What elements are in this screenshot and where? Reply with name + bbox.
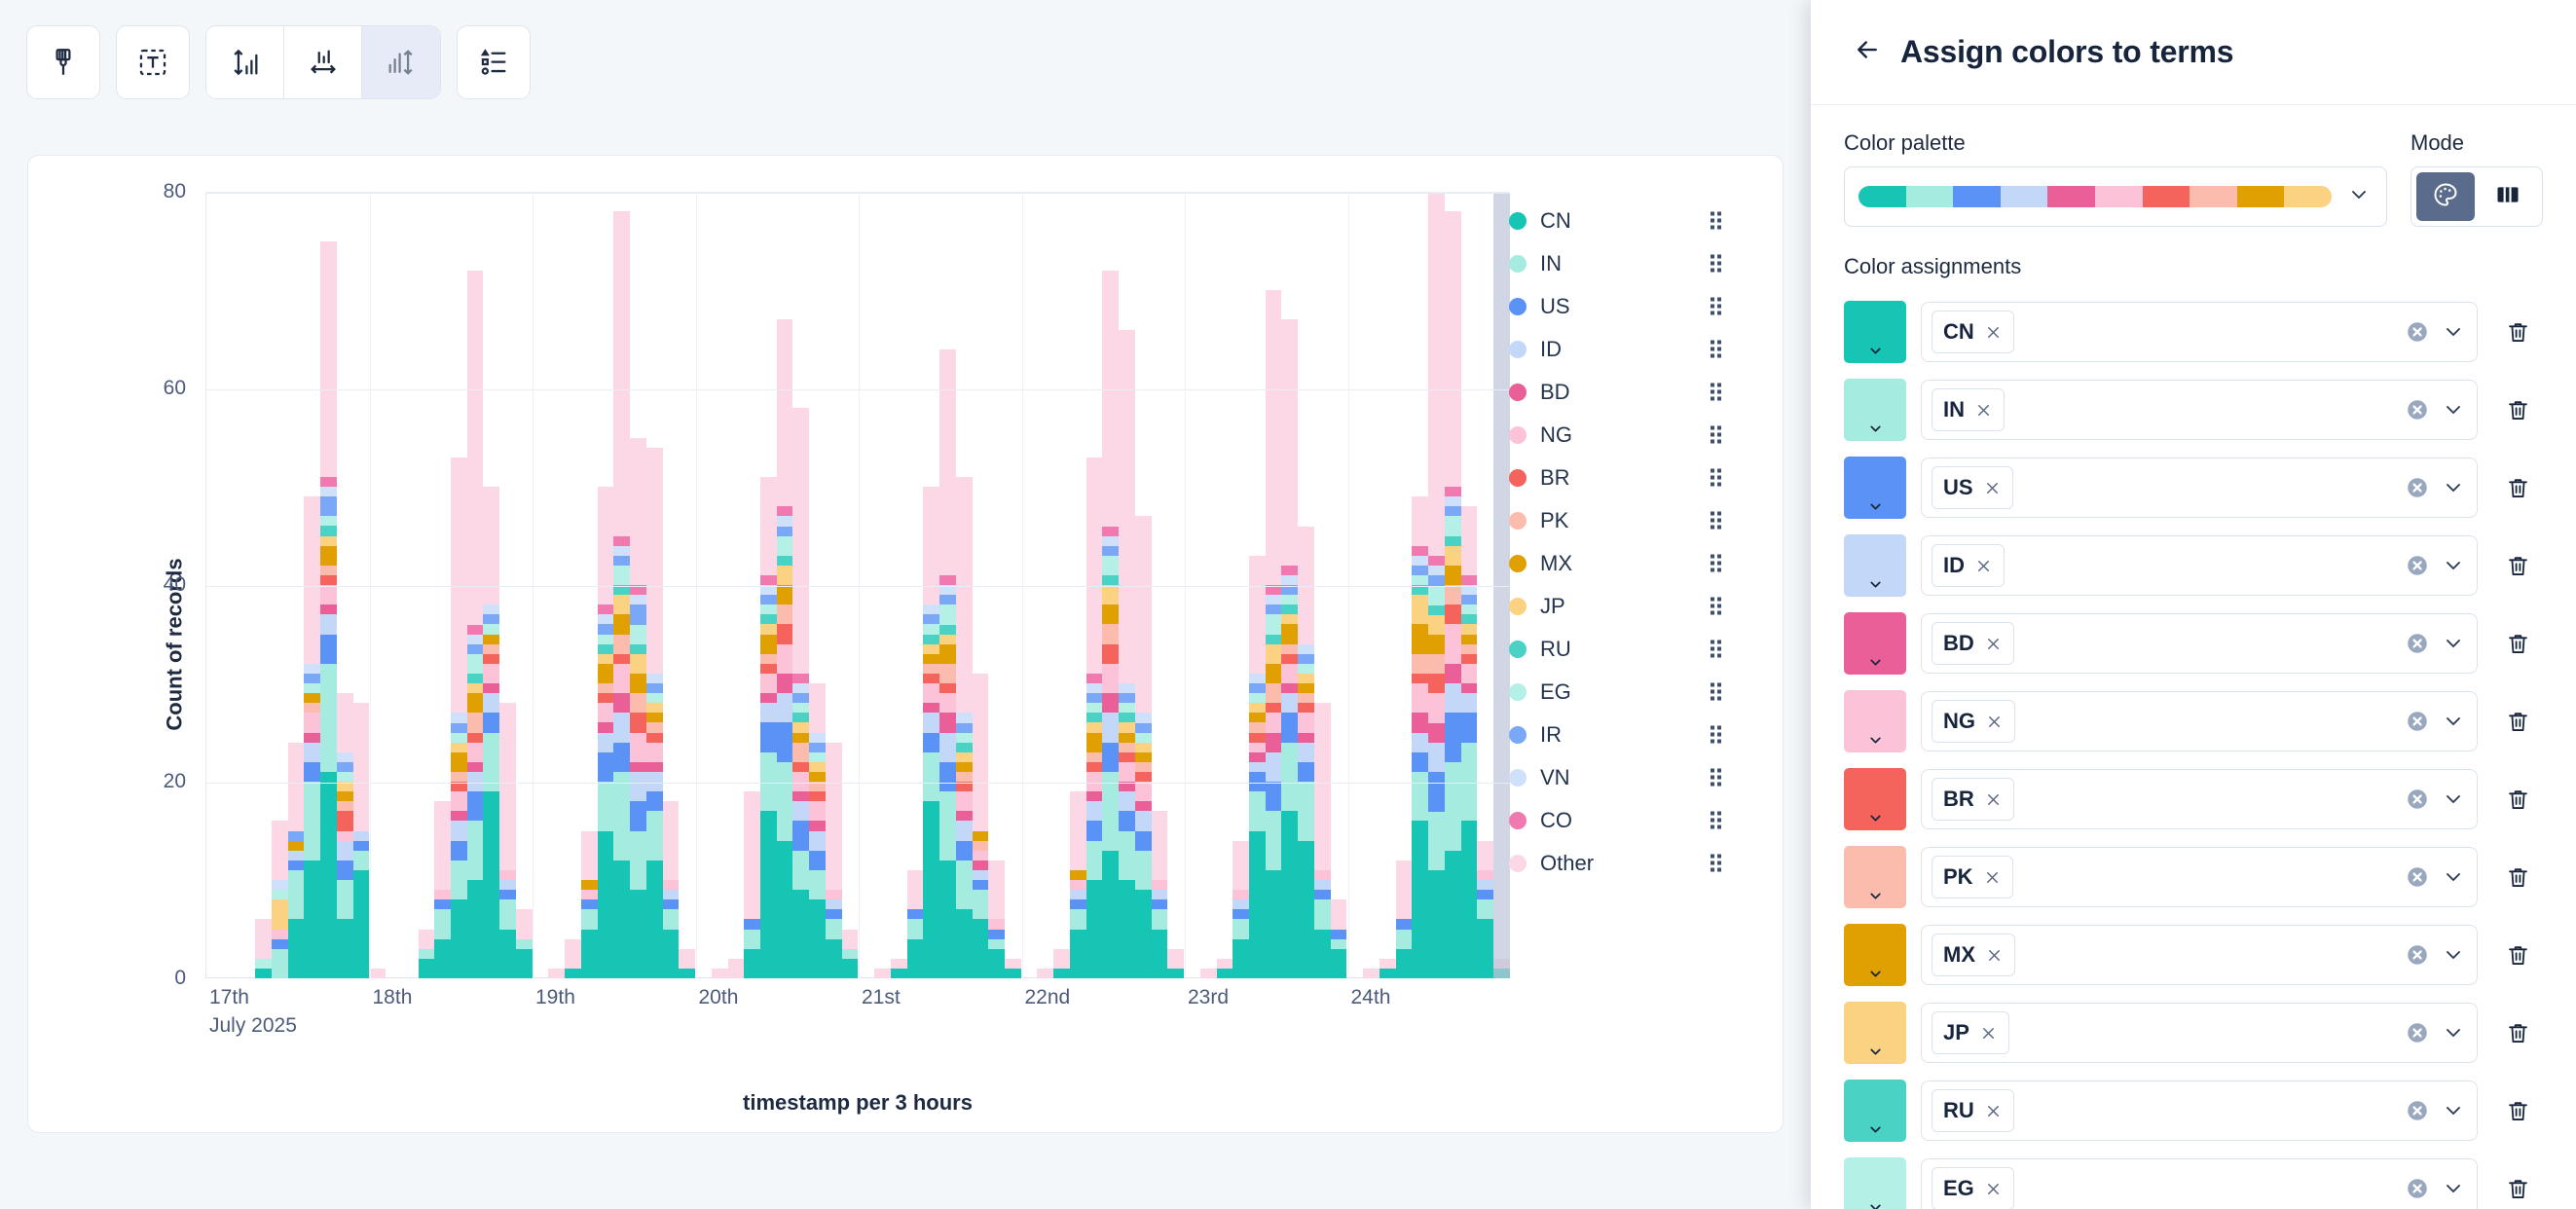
bar-segment[interactable] <box>663 899 680 909</box>
drag-handle-icon[interactable] <box>1711 469 1721 488</box>
bar-segment[interactable] <box>792 693 809 703</box>
bar-segment[interactable] <box>777 527 793 536</box>
bar-segment[interactable] <box>516 909 533 938</box>
bar-segment[interactable] <box>304 733 320 743</box>
bar-segment[interactable] <box>923 604 939 614</box>
bar-segment[interactable] <box>1298 693 1314 703</box>
bar-segment[interactable] <box>1461 624 1478 634</box>
bar-segment[interactable] <box>907 870 924 909</box>
bar-segment[interactable] <box>1298 782 1314 841</box>
bar-segment[interactable] <box>598 782 614 831</box>
bar-segment[interactable] <box>1461 575 1478 585</box>
bar-segment[interactable] <box>630 801 646 830</box>
bar-segment[interactable] <box>1152 890 1168 899</box>
color-swatch-button[interactable] <box>1844 768 1906 830</box>
bar-segment[interactable] <box>320 241 337 477</box>
bar-segment[interactable] <box>923 487 939 604</box>
bar-segment[interactable] <box>1461 664 1478 683</box>
bar-segment[interactable] <box>663 930 680 979</box>
bar-segment[interactable] <box>467 821 484 880</box>
bar-segment[interactable] <box>483 614 499 624</box>
bar-segment[interactable] <box>1281 319 1298 566</box>
bar-segment[interactable] <box>760 703 777 722</box>
bar-segment[interactable] <box>613 635 630 654</box>
bar-segment[interactable] <box>1233 890 1249 899</box>
drag-handle-icon[interactable] <box>1711 555 1721 573</box>
bar-segment[interactable] <box>1314 899 1331 929</box>
bar-segment[interactable] <box>646 713 663 722</box>
clear-circle-icon[interactable] <box>2405 1098 2430 1123</box>
bar-segment[interactable] <box>792 733 809 743</box>
clear-circle-icon[interactable] <box>2405 475 2430 500</box>
bar-segment[interactable] <box>451 733 467 743</box>
bar-segment[interactable] <box>809 683 826 733</box>
bar-segment[interactable] <box>1412 575 1428 585</box>
bar-segment[interactable] <box>304 674 320 683</box>
bar-segment[interactable] <box>1119 762 1135 782</box>
chevron-down-icon[interactable] <box>2442 865 2465 889</box>
bar-segment[interactable] <box>1070 791 1086 870</box>
bar-segment[interactable] <box>467 762 484 772</box>
chevron-down-icon[interactable] <box>2442 788 2465 811</box>
bar-segment[interactable] <box>646 733 663 743</box>
bar-segment[interactable] <box>353 870 370 978</box>
delete-assignment-button[interactable] <box>2492 1163 2543 1209</box>
bar-segment[interactable] <box>1119 693 1135 703</box>
bar-segment[interactable] <box>613 546 630 556</box>
bar-segment[interactable] <box>939 664 956 683</box>
bar-segment[interactable] <box>337 791 353 801</box>
bar-segment[interactable] <box>1461 635 1478 644</box>
bar-segment[interactable] <box>1281 713 1298 742</box>
bar-segment[interactable] <box>1249 791 1266 830</box>
bar-segment[interactable] <box>1428 635 1445 654</box>
bar-segment[interactable] <box>1266 870 1282 978</box>
bar-segment[interactable] <box>988 919 1005 929</box>
bar-segment[interactable] <box>792 743 809 762</box>
bar-segment[interactable] <box>1086 722 1103 732</box>
bar-segment[interactable] <box>1102 271 1119 527</box>
bar-segment[interactable] <box>1428 693 1445 722</box>
drag-handle-icon[interactable] <box>1711 812 1721 830</box>
bar-segment[interactable] <box>598 683 614 693</box>
clear-circle-icon[interactable] <box>2405 1020 2430 1045</box>
bar-segment[interactable] <box>1412 546 1428 556</box>
bar-segment[interactable] <box>1412 683 1428 713</box>
bar-segment[interactable] <box>499 890 516 899</box>
bar-segment[interactable] <box>1086 801 1103 821</box>
delete-assignment-button[interactable] <box>2492 462 2543 513</box>
bar-segment[interactable] <box>988 861 1005 920</box>
bar-segment[interactable] <box>1119 791 1135 811</box>
bar-segment[interactable] <box>467 654 484 674</box>
bar-segment[interactable] <box>760 674 777 693</box>
bar-segment[interactable] <box>777 536 793 556</box>
bar-segment[interactable] <box>581 831 598 881</box>
bar-segment[interactable] <box>792 890 809 978</box>
bar-segment[interactable] <box>1053 969 1070 978</box>
bar-segment[interactable] <box>1266 595 1282 604</box>
bar-segment[interactable] <box>1281 595 1298 604</box>
bar-segment[interactable] <box>939 791 956 861</box>
bar-segment[interactable] <box>467 635 484 644</box>
bar-segment[interactable] <box>1167 949 1184 969</box>
bar-segment[interactable] <box>451 752 467 772</box>
bar-segment[interactable] <box>712 969 728 978</box>
bar-segment[interactable] <box>956 762 973 772</box>
bar-segment[interactable] <box>320 516 337 526</box>
bar-segment[interactable] <box>1396 861 1413 920</box>
bar-segment[interactable] <box>1200 969 1217 978</box>
bar-segment[interactable] <box>451 821 467 840</box>
bar-segment[interactable] <box>826 899 842 909</box>
bar-segment[interactable] <box>891 959 907 969</box>
term-combobox[interactable]: RU <box>1921 1081 2478 1141</box>
bar-segment[interactable] <box>1461 821 1478 978</box>
drag-handle-icon[interactable] <box>1711 512 1721 531</box>
bar-segment[interactable] <box>1298 762 1314 782</box>
bar-segment[interactable] <box>1281 811 1298 978</box>
bar-segment[interactable] <box>777 624 793 643</box>
bar-segment[interactable] <box>1314 930 1331 979</box>
color-swatch-button[interactable] <box>1844 846 1906 908</box>
bar-segment[interactable] <box>1266 664 1282 683</box>
bar-segment[interactable] <box>809 791 826 801</box>
legend-item[interactable]: PK <box>1509 499 1733 542</box>
bar-segment[interactable] <box>679 949 695 969</box>
bar-segment[interactable] <box>581 909 598 929</box>
clear-circle-icon[interactable] <box>2405 864 2430 890</box>
bar-segment[interactable] <box>792 408 809 674</box>
bar-segment[interactable] <box>1428 615 1445 635</box>
bar-segment[interactable] <box>939 733 956 762</box>
bar-segment[interactable] <box>1428 556 1445 566</box>
legend-item[interactable]: ID <box>1509 328 1733 371</box>
drag-handle-icon[interactable] <box>1711 598 1721 616</box>
bar-segment[interactable] <box>1070 890 1086 899</box>
bar-segment[interactable] <box>956 752 973 762</box>
bar-segment[interactable] <box>1461 713 1478 742</box>
drag-handle-icon[interactable] <box>1711 255 1721 274</box>
bar-segment[interactable] <box>1266 290 1282 585</box>
bar-segment[interactable] <box>304 782 320 861</box>
bar-segment[interactable] <box>1298 674 1314 683</box>
bar-segment[interactable] <box>973 861 989 870</box>
bar-segment[interactable] <box>646 703 663 713</box>
bar-segment[interactable] <box>1086 791 1103 801</box>
term-combobox[interactable]: BR <box>1921 769 2478 829</box>
legend-item[interactable]: US <box>1509 285 1733 328</box>
color-swatch-button[interactable] <box>1844 1080 1906 1142</box>
color-swatch-button[interactable] <box>1844 301 1906 363</box>
bar-segment[interactable] <box>956 772 973 782</box>
bar-segment[interactable] <box>320 496 337 516</box>
bar-segment[interactable] <box>320 575 337 585</box>
bar-segment[interactable] <box>613 614 630 634</box>
bar-segment[interactable] <box>809 821 826 830</box>
bar-segment[interactable] <box>613 664 630 693</box>
bar-segment[interactable] <box>1281 743 1298 812</box>
bar-segment[interactable] <box>1396 949 1413 978</box>
bar-segment[interactable] <box>1428 575 1445 585</box>
drag-handle-icon[interactable] <box>1711 341 1721 359</box>
bar-segment[interactable] <box>792 713 809 722</box>
bar-segment[interactable] <box>1102 693 1119 713</box>
horizontal-axis-button[interactable] <box>284 26 362 98</box>
bar-segment[interactable] <box>1298 644 1314 654</box>
bar-segment[interactable] <box>826 939 842 978</box>
delete-assignment-button[interactable] <box>2492 930 2543 980</box>
delete-assignment-button[interactable] <box>2492 540 2543 591</box>
bar-segment[interactable] <box>1249 703 1266 713</box>
bar-segment[interactable] <box>499 703 516 870</box>
bar-segment[interactable] <box>483 644 499 654</box>
bar-segment[interactable] <box>353 831 370 841</box>
bar-segment[interactable] <box>630 772 646 801</box>
bar-segment[interactable] <box>288 841 305 851</box>
bar-segment[interactable] <box>467 271 484 625</box>
bar-segment[interactable] <box>1135 713 1152 722</box>
bar-segment[interactable] <box>1086 683 1103 693</box>
bar-segment[interactable] <box>809 743 826 752</box>
bar-segment[interactable] <box>1249 722 1266 732</box>
bar-segment[interactable] <box>419 930 435 949</box>
bar-segment[interactable] <box>598 664 614 683</box>
bar-segment[interactable] <box>483 654 499 664</box>
bar-segment[interactable] <box>1412 595 1428 624</box>
bar-segment[interactable] <box>973 919 989 978</box>
bar-segment[interactable] <box>973 841 989 851</box>
bar-segment[interactable] <box>923 654 939 664</box>
bar-segment[interactable] <box>760 575 777 585</box>
bar-segment[interactable] <box>467 791 484 821</box>
bar-segment[interactable] <box>874 969 891 978</box>
bar-segment[interactable] <box>1086 713 1103 722</box>
bar-segment[interactable] <box>1477 919 1493 978</box>
bar-segment[interactable] <box>809 831 826 851</box>
bar-segment[interactable] <box>337 772 353 782</box>
bar-segment[interactable] <box>792 801 809 821</box>
bar-segment[interactable] <box>1298 841 1314 978</box>
bar-segment[interactable] <box>760 614 777 624</box>
bar-segment[interactable] <box>777 319 793 506</box>
bar-segment[interactable] <box>1298 664 1314 674</box>
bar-segment[interactable] <box>581 890 598 899</box>
bar-segment[interactable] <box>1266 733 1282 752</box>
bar-segment[interactable] <box>337 752 353 762</box>
bar-segment[interactable] <box>1428 586 1445 605</box>
bar-segment[interactable] <box>646 722 663 732</box>
bar-segment[interactable] <box>483 635 499 644</box>
close-x-icon[interactable] <box>1985 713 2004 731</box>
bar-segment[interactable] <box>956 791 973 811</box>
bar-segment[interactable] <box>630 762 646 772</box>
drag-handle-icon[interactable] <box>1711 769 1721 788</box>
bar-segment[interactable] <box>646 791 663 811</box>
drag-handle-icon[interactable] <box>1711 212 1721 231</box>
bar-segment[interactable] <box>467 674 484 683</box>
bar-segment[interactable] <box>1445 664 1461 683</box>
bar-segment[interactable] <box>1445 487 1461 496</box>
bar-segment[interactable] <box>1445 566 1461 585</box>
color-swatch-button[interactable] <box>1844 534 1906 597</box>
bar-segment[interactable] <box>419 949 435 959</box>
chevron-down-icon[interactable] <box>2442 398 2465 421</box>
bar-segment[interactable] <box>939 635 956 644</box>
legend-item[interactable]: Other <box>1509 842 1733 885</box>
bar-segment[interactable] <box>255 959 272 969</box>
bar-segment[interactable] <box>467 713 484 732</box>
bar-segment[interactable] <box>451 713 467 722</box>
bar-segment[interactable] <box>304 861 320 978</box>
bar-segment[interactable] <box>1070 930 1086 979</box>
bar-segment[interactable] <box>1445 585 1461 604</box>
term-combobox[interactable]: ID <box>1921 535 2478 596</box>
bar-segment[interactable] <box>1249 733 1266 743</box>
bar-segment[interactable] <box>369 969 386 978</box>
bar-segment[interactable] <box>353 703 370 830</box>
bar-segment[interactable] <box>792 683 809 693</box>
bar-segment[interactable] <box>434 939 451 978</box>
clear-circle-icon[interactable] <box>2405 709 2430 734</box>
bar-segment[interactable] <box>1331 930 1347 939</box>
bar-segment[interactable] <box>1412 772 1428 822</box>
bar-segment[interactable] <box>809 752 826 762</box>
bar-segment[interactable] <box>1102 575 1119 585</box>
legend-item[interactable]: NG <box>1509 414 1733 457</box>
bar-segment[interactable] <box>777 585 793 604</box>
bar-segment[interactable] <box>939 595 956 604</box>
bar-segment[interactable] <box>923 644 939 654</box>
bar-segment[interactable] <box>923 624 939 634</box>
bar-segment[interactable] <box>1281 654 1298 664</box>
bar-segment[interactable] <box>777 693 793 722</box>
bar-segment[interactable] <box>907 909 924 919</box>
bar-segment[interactable] <box>565 939 581 969</box>
bar-segment[interactable] <box>646 683 663 693</box>
bar-segment[interactable] <box>499 899 516 929</box>
bar-segment[interactable] <box>548 969 565 978</box>
bar-segment[interactable] <box>1217 959 1233 969</box>
bar-segment[interactable] <box>1217 969 1233 978</box>
bar-segment[interactable] <box>891 969 907 978</box>
bar-segment[interactable] <box>1412 752 1428 772</box>
term-combobox[interactable]: US <box>1921 458 2478 518</box>
term-combobox[interactable]: EG <box>1921 1158 2478 1209</box>
bar-segment[interactable] <box>923 664 939 674</box>
bar-segment[interactable] <box>304 703 320 713</box>
bar-segment[interactable] <box>483 713 499 732</box>
bar-segment[interactable] <box>777 762 793 841</box>
bar-segment[interactable] <box>1119 330 1135 684</box>
bar-segment[interactable] <box>760 635 777 654</box>
bar-segment[interactable] <box>1249 762 1266 772</box>
bar-segment[interactable] <box>451 899 467 978</box>
bar-segment[interactable] <box>598 703 614 722</box>
bar-segment[interactable] <box>434 890 451 899</box>
clear-circle-icon[interactable] <box>2405 631 2430 656</box>
bar-segment[interactable] <box>467 644 484 654</box>
bar-segment[interactable] <box>1102 713 1119 742</box>
bar-segment[interactable] <box>923 703 939 713</box>
vertical-axis-button[interactable] <box>206 26 284 98</box>
bar-segment[interactable] <box>956 821 973 840</box>
bar-segment[interactable] <box>646 762 663 772</box>
bar-segment[interactable] <box>1119 831 1135 881</box>
bar-segment[interactable] <box>613 595 630 614</box>
back-button[interactable] <box>1844 29 1891 76</box>
bar-segment[interactable] <box>483 604 499 614</box>
bar-segment[interactable] <box>1412 496 1428 546</box>
bar-segment[interactable] <box>1135 772 1152 782</box>
bar-segment[interactable] <box>809 851 826 870</box>
bar-segment[interactable] <box>499 880 516 890</box>
clear-circle-icon[interactable] <box>2405 942 2430 968</box>
bar-segment[interactable] <box>956 477 973 713</box>
chevron-down-icon[interactable] <box>2442 554 2465 577</box>
bar-segment[interactable] <box>598 654 614 664</box>
bar-segment[interactable] <box>1266 635 1282 644</box>
bar-segment[interactable] <box>1135 752 1152 762</box>
bar-segment[interactable] <box>1428 654 1445 674</box>
bar-segment[interactable] <box>1266 703 1282 713</box>
bar-segment[interactable] <box>1314 703 1331 870</box>
bar-segment[interactable] <box>728 959 745 978</box>
bar-segment[interactable] <box>1412 733 1428 752</box>
bar-segment[interactable] <box>973 851 989 861</box>
bar-segment[interactable] <box>1119 722 1135 732</box>
bar-segment[interactable] <box>304 762 320 782</box>
bar-segment[interactable] <box>451 743 467 752</box>
bar-segment[interactable] <box>1135 831 1152 851</box>
bar-segment[interactable] <box>646 448 663 674</box>
bar-segment[interactable] <box>1412 674 1428 683</box>
delete-assignment-button[interactable] <box>2492 774 2543 824</box>
bar-segment[interactable] <box>1445 851 1461 978</box>
bar-segment[interactable] <box>1119 743 1135 752</box>
bar-segment[interactable] <box>1412 713 1428 732</box>
bar-segment[interactable] <box>679 969 695 978</box>
delete-assignment-button[interactable] <box>2492 307 2543 357</box>
bar-segment[interactable] <box>1428 193 1445 556</box>
bar-segment[interactable] <box>1445 604 1461 624</box>
bar-segment[interactable] <box>483 624 499 634</box>
bar-segment[interactable] <box>1461 654 1478 664</box>
bar-segment[interactable] <box>1461 644 1478 654</box>
bar-segment[interactable] <box>760 811 777 978</box>
bar-segment[interactable] <box>598 487 614 604</box>
bar-segment[interactable] <box>923 635 939 644</box>
bar-segment[interactable] <box>598 693 614 703</box>
bar-segment[interactable] <box>272 939 288 949</box>
bar-segment[interactable] <box>973 674 989 831</box>
bar-segment[interactable] <box>1037 969 1053 978</box>
bar-segment[interactable] <box>337 919 353 978</box>
bar-segment[interactable] <box>1314 890 1331 899</box>
legend-item[interactable]: CN <box>1509 200 1733 242</box>
bar-segment[interactable] <box>923 683 939 703</box>
bar-segment[interactable] <box>809 899 826 978</box>
clear-circle-icon[interactable] <box>2405 397 2430 422</box>
legend-settings-button[interactable] <box>457 25 531 99</box>
bar-segment[interactable] <box>792 703 809 713</box>
bar-segment[interactable] <box>320 566 337 575</box>
bar-segment[interactable] <box>1445 762 1461 851</box>
legend-item[interactable]: MX <box>1509 542 1733 585</box>
bar-segment[interactable] <box>288 743 305 831</box>
bar-segment[interactable] <box>1005 969 1021 978</box>
bar-segment[interactable] <box>304 664 320 674</box>
